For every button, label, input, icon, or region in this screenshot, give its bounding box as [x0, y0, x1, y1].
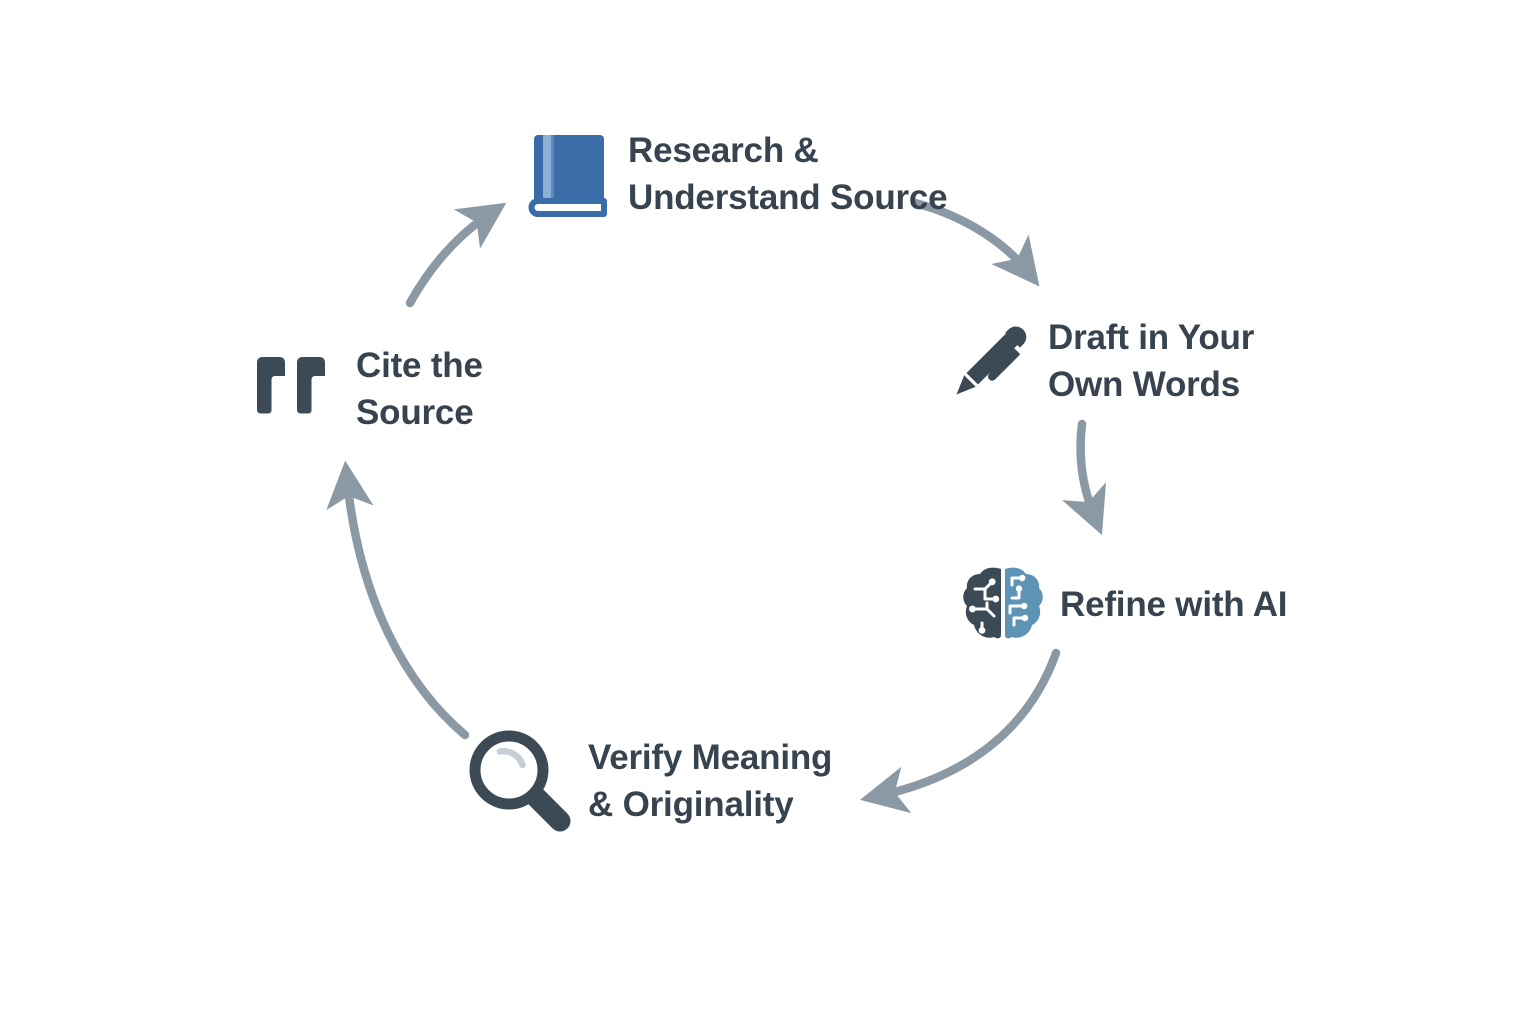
arrow-cite-to-research	[410, 213, 491, 303]
arrow-verify-to-cite	[347, 479, 465, 735]
step-refine-label: Refine with AI	[1060, 582, 1287, 629]
brain-icon	[962, 565, 1044, 646]
arrow-draft-to-refine	[1081, 424, 1095, 518]
step-verify-meaning-originality[interactable]: Verify Meaning & Originality	[464, 725, 832, 838]
step-research-understand-source[interactable]: Research & Understand Source	[524, 125, 947, 225]
arrow-refine-to-verify	[878, 653, 1056, 796]
quote-icon	[252, 356, 330, 423]
pen-icon	[946, 313, 1038, 410]
step-verify-label: Verify Meaning & Originality	[588, 735, 832, 828]
step-cite-the-source[interactable]: Cite the Source	[252, 343, 483, 436]
step-refine-with-ai[interactable]: Refine with AI	[962, 565, 1287, 646]
step-draft-in-your-own-words[interactable]: Draft in Your Own Words	[946, 313, 1254, 410]
step-draft-label: Draft in Your Own Words	[1048, 315, 1254, 408]
magnifier-icon	[464, 725, 576, 838]
diagram-canvas: Research & Understand Source Draft in Yo…	[0, 0, 1536, 1024]
book-icon	[524, 125, 614, 225]
step-research-label: Research & Understand Source	[628, 128, 947, 221]
step-cite-label: Cite the Source	[356, 343, 483, 436]
